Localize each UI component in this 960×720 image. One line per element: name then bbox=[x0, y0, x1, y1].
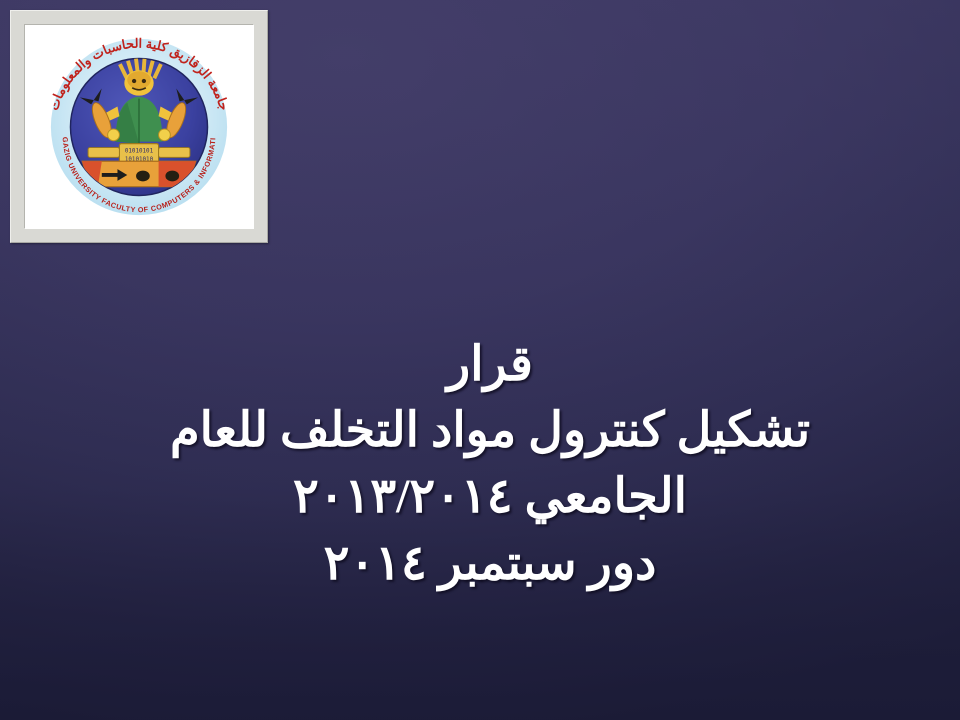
slide-title: قرار تشكيل كنترول مواد التخلف للعام الجا… bbox=[120, 332, 860, 597]
title-line-2: تشكيل كنترول مواد التخلف للعام bbox=[120, 398, 860, 464]
logo-picture-frame: جامعة الزقازيق كلية الحاسبات والمعلومات … bbox=[10, 10, 268, 243]
title-line-1: قرار bbox=[120, 332, 860, 398]
emblem-binary-top: 01010101 bbox=[125, 148, 154, 154]
logo-frame-mat: جامعة الزقازيق كلية الحاسبات والمعلومات … bbox=[24, 24, 254, 229]
title-line-3: الجامعي ٢٠١٣/٢٠١٤ bbox=[120, 464, 860, 530]
presentation-slide: جامعة الزقازيق كلية الحاسبات والمعلومات … bbox=[0, 0, 960, 720]
university-emblem-icon: جامعة الزقازيق كلية الحاسبات والمعلومات … bbox=[41, 34, 237, 219]
title-line-4: دور سبتمبر ٢٠١٤ bbox=[120, 531, 860, 597]
logo-image: جامعة الزقازيق كلية الحاسبات والمعلومات … bbox=[34, 34, 244, 219]
